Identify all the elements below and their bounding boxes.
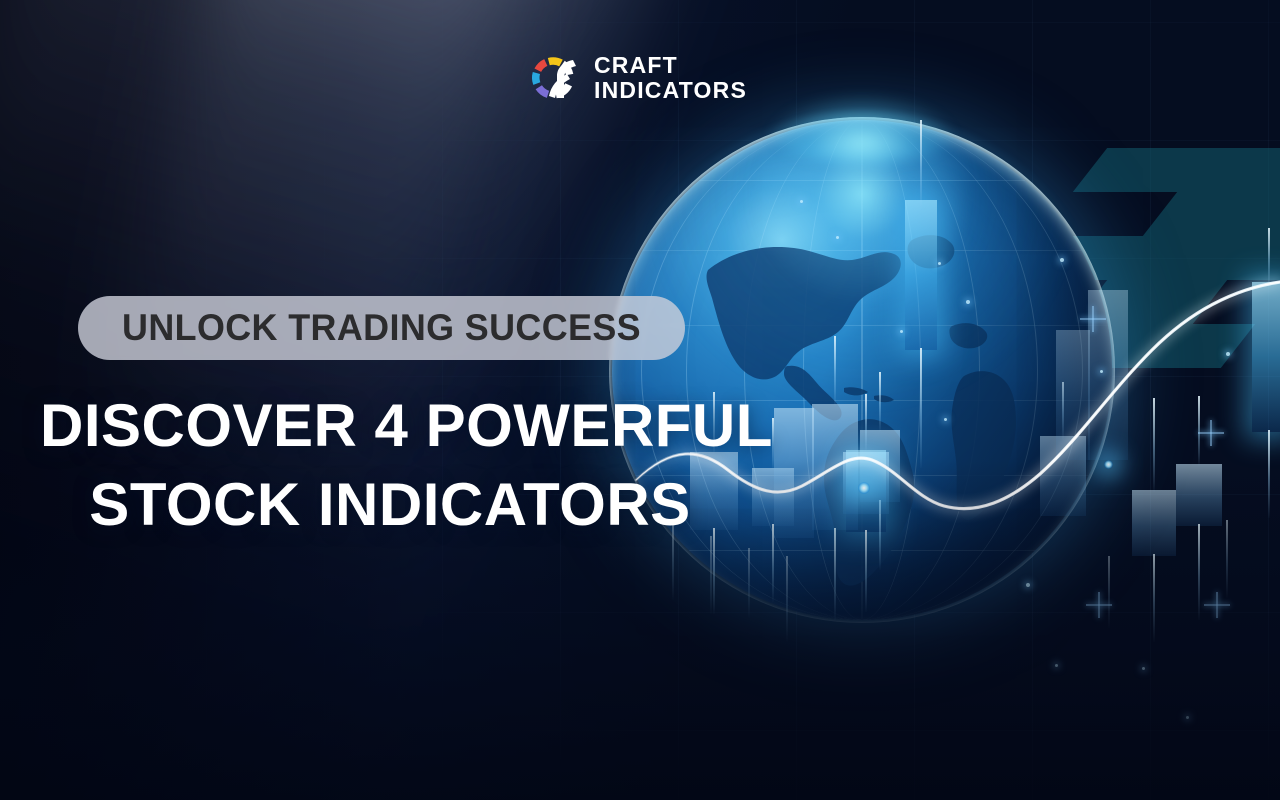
brand-name: CRAFT INDICATORS: [594, 53, 747, 103]
craft-indicators-ring-logo-icon: [527, 52, 579, 104]
hero-banner: CRAFT INDICATORS UNLOCK TRADING SUCCESS …: [0, 0, 1280, 800]
brand-name-line1: CRAFT: [594, 53, 747, 78]
headline-line-2: STOCK INDICATORS: [40, 465, 740, 544]
tagline-badge: UNLOCK TRADING SUCCESS: [78, 296, 685, 360]
headline-line-1: DISCOVER 4 POWERFUL: [40, 386, 740, 465]
page-title: DISCOVER 4 POWERFUL STOCK INDICATORS: [40, 386, 740, 544]
tagline-badge-label: UNLOCK TRADING SUCCESS: [122, 307, 641, 349]
brand-name-line2: INDICATORS: [594, 78, 747, 103]
brand-logo[interactable]: CRAFT INDICATORS: [527, 52, 747, 104]
